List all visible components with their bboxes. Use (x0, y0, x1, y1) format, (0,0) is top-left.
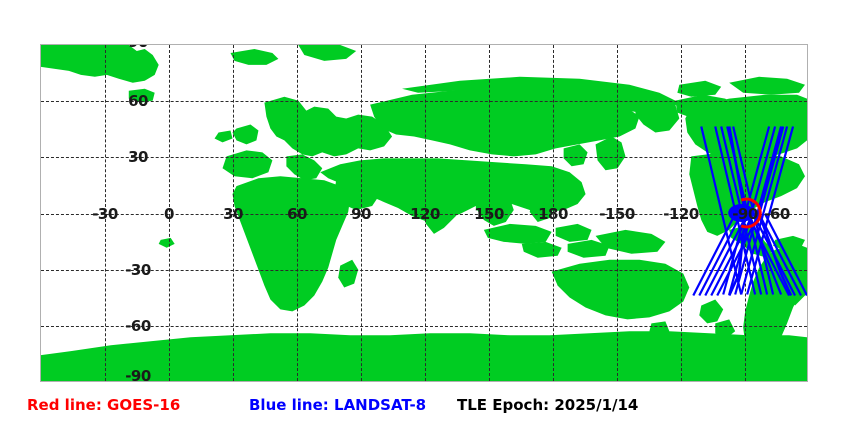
map-legend: Red line: GOES-16 Blue line: LANDSAT-8 T… (0, 396, 850, 420)
lon-label: 180 (538, 205, 568, 223)
lon-label: 120 (410, 205, 440, 223)
lon-label: 90 (351, 205, 371, 223)
lat-label: 60 (128, 92, 148, 110)
lon-label: -30 (92, 205, 118, 223)
lon-label: -120 (663, 205, 699, 223)
lon-label: 150 (474, 205, 504, 223)
legend-goes16: Red line: GOES-16 (27, 396, 180, 414)
legend-tle-epoch: TLE Epoch: 2025/1/14 (457, 396, 638, 414)
lat-label: 30 (128, 148, 148, 166)
lon-label: -150 (599, 205, 635, 223)
map-plot-area: -30 0 30 60 90 120 150 180 -150 -120 -90… (40, 44, 808, 382)
lon-label: -60 (764, 205, 790, 223)
lon-label: 30 (223, 205, 243, 223)
legend-landsat8: Blue line: LANDSAT-8 (249, 396, 426, 414)
lat-label: -30 (125, 261, 151, 279)
lat-label: -90 (125, 367, 151, 382)
lon-label: 60 (287, 205, 307, 223)
lat-label: -60 (125, 317, 151, 335)
lon-label: -90 (732, 205, 758, 223)
satellite-track-map-app: -30 0 30 60 90 120 150 180 -150 -120 -90… (0, 0, 850, 425)
lat-label: 90 (128, 44, 148, 51)
lon-label: 0 (164, 205, 174, 223)
